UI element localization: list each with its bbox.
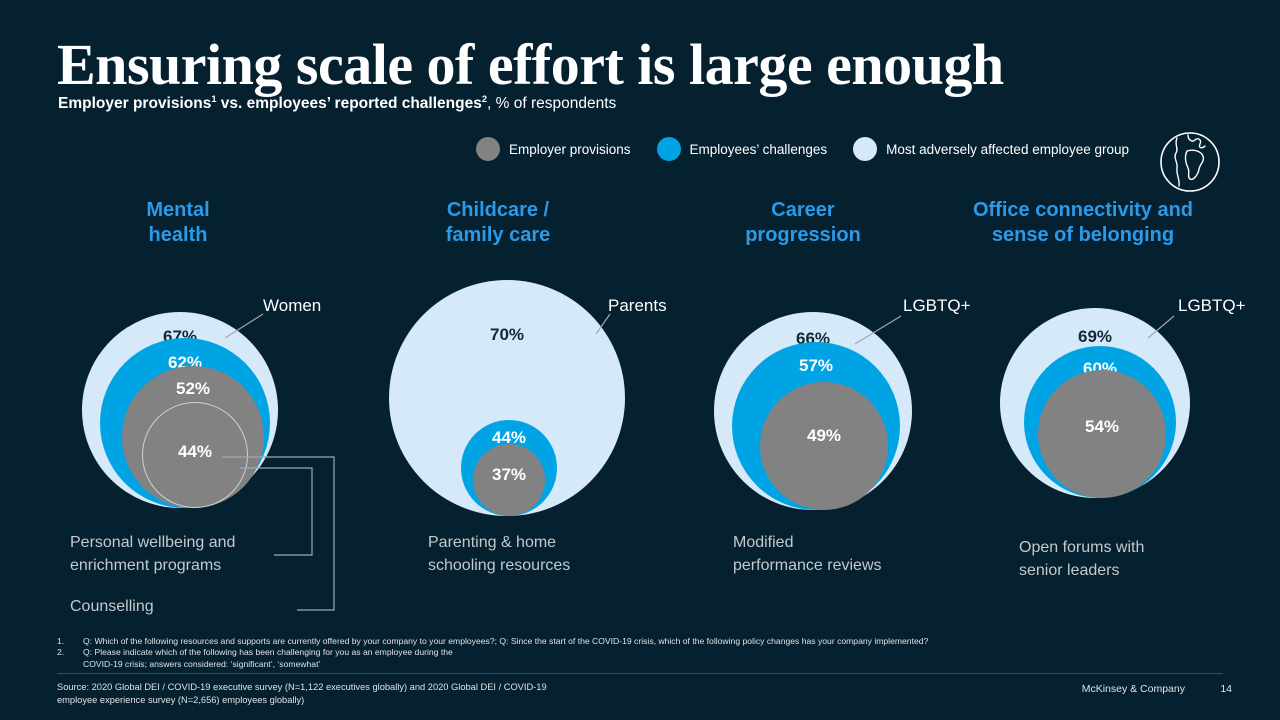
- column-office-connectivity: Office connectivity and sense of belongi…: [940, 198, 1226, 248]
- column-childcare: Childcare / family care: [370, 198, 626, 248]
- subtitle-part-a: Employer provisions: [58, 95, 211, 112]
- legend-item-employer-provisions: Employer provisions: [476, 137, 631, 161]
- bubble-49: 49%: [760, 382, 888, 510]
- bubble-group-childcare: 70% 44% 37%: [389, 280, 625, 516]
- footnote-2-number: 2.: [57, 647, 83, 670]
- leader-line-parents: [596, 312, 620, 338]
- bubble-54: 54%: [1038, 370, 1166, 498]
- column-career-progression: Career progression: [690, 198, 916, 248]
- slide: Ensuring scale of effort is large enough…: [0, 0, 1280, 720]
- page-title: Ensuring scale of effort is large enough: [57, 33, 1004, 97]
- footnote-2-text: Q: Please indicate which of the followin…: [83, 647, 453, 670]
- footer-divider: [57, 673, 1223, 674]
- globe-icon: [1157, 129, 1223, 195]
- legend-item-affected-group: Most adversely affected employee group: [853, 137, 1129, 161]
- footnote-2: 2. Q: Please indicate which of the follo…: [57, 647, 1187, 670]
- legend-label-affected-group: Most adversely affected employee group: [886, 142, 1129, 157]
- group-label-lgbtq-career: LGBTQ+: [903, 296, 971, 316]
- column-heading-career-progression: Career progression: [690, 198, 916, 248]
- footnote-1: 1. Q: Which of the following resources a…: [57, 636, 1187, 647]
- column-heading-mental-health: Mental health: [40, 198, 316, 248]
- subtitle-part-c: , % of respondents: [487, 95, 616, 112]
- legend-swatch-gray: [476, 137, 500, 161]
- legend-label-employer-provisions: Employer provisions: [509, 142, 631, 157]
- group-label-lgbtq-office: LGBTQ+: [1178, 296, 1246, 316]
- column-mental-health: Mental health: [40, 198, 316, 248]
- column-heading-childcare: Childcare / family care: [370, 198, 626, 248]
- legend-swatch-pale: [853, 137, 877, 161]
- footnote-1-text: Q: Which of the following resources and …: [83, 636, 928, 647]
- caption-parenting-resources: Parenting & home schooling resources: [428, 531, 658, 577]
- caption-open-forums: Open forums with senior leaders: [1019, 536, 1249, 582]
- page-subtitle: Employer provisions1 vs. employees’ repo…: [58, 94, 616, 114]
- brand-mckinsey: McKinsey & Company: [1082, 683, 1185, 695]
- page-number: 14: [1220, 683, 1232, 695]
- leader-line-lgbtq-career: [855, 312, 913, 346]
- subtitle-part-b: vs. employees’ reported challenges: [217, 95, 482, 112]
- caption-counselling: Counselling: [70, 595, 290, 618]
- leader-line-lgbtq-office: [1148, 312, 1186, 340]
- legend-swatch-blue: [657, 137, 681, 161]
- source-note: Source: 2020 Global DEI / COVID-19 execu…: [57, 681, 547, 706]
- column-heading-office-connectivity: Office connectivity and sense of belongi…: [940, 198, 1226, 248]
- bubble-37: 37%: [473, 444, 545, 516]
- legend-label-employees-challenges: Employees’ challenges: [690, 142, 828, 157]
- footnotes: 1. Q: Which of the following resources a…: [57, 636, 1187, 670]
- legend: Employer provisions Employees’ challenge…: [476, 137, 1129, 161]
- leader-line-women: [225, 310, 275, 340]
- caption-personal-wellbeing: Personal wellbeing and enrichment progra…: [70, 531, 290, 577]
- footnote-1-number: 1.: [57, 636, 83, 647]
- legend-item-employees-challenges: Employees’ challenges: [657, 137, 828, 161]
- caption-modified-reviews: Modified performance reviews: [733, 531, 963, 577]
